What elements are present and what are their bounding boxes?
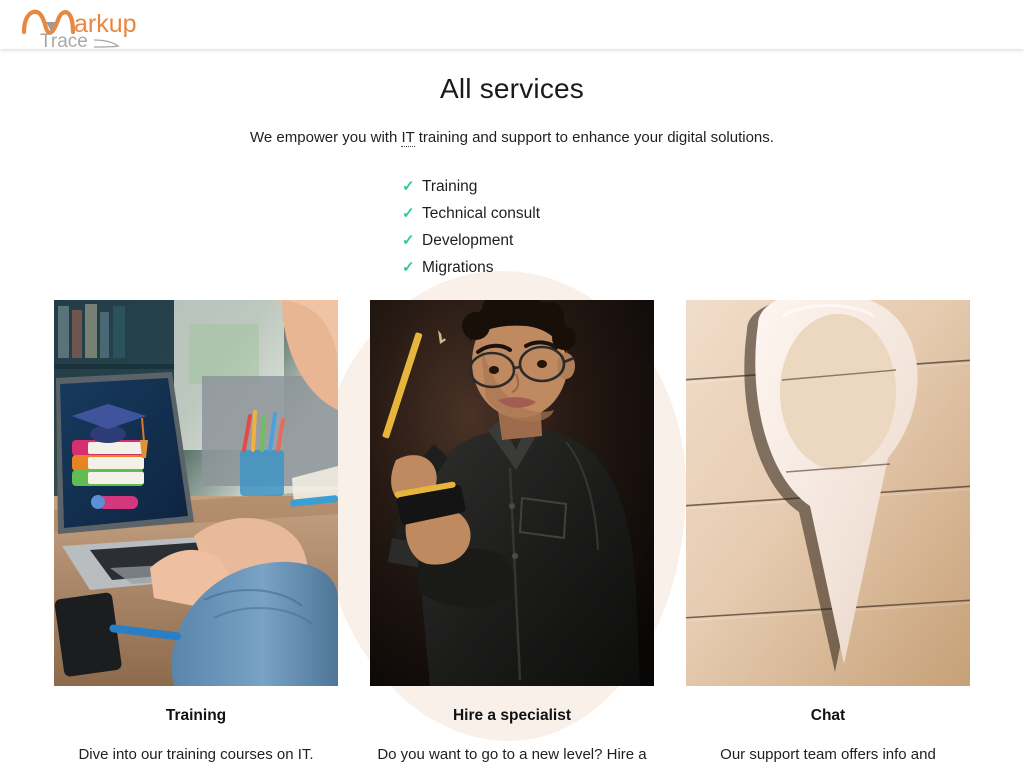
check-icon: ✓ [402,200,415,227]
list-item: ✓ Technical consult [402,200,622,227]
site-logo[interactable]: arkup Trace [18,2,138,48]
card-description: Our support team offers info and guidanc… [686,743,970,768]
service-card-hire-a-specialist[interactable]: Hire a specialist Do you want to go to a… [370,300,654,768]
subtitle-text-after: training and support to enhance your dig… [415,129,774,146]
feature-label: Technical consult [422,200,540,227]
service-card-chat[interactable]: Chat Our support team offers info and gu… [686,300,970,768]
page-subtitle: We empower you with IT training and supp… [0,129,1024,146]
white-map-pin-marker-photo [686,300,970,686]
subtitle-text-before: We empower you with [250,129,401,146]
card-image-chat [686,300,970,686]
site-header: arkup Trace [0,0,1024,49]
service-card-training[interactable]: Training Dive into our training courses … [54,300,338,768]
feature-label: Development [422,227,513,254]
card-title: Training [54,707,338,725]
logo-secondary-text: Trace [40,31,88,48]
service-cards: Training Dive into our training courses … [0,300,1024,768]
person-at-laptop-elearning-photo [54,300,338,686]
card-title: Chat [686,707,970,725]
feature-label: Training [422,173,477,200]
list-item: ✓ Development [402,227,622,254]
feature-checklist: ✓ Training ✓ Technical consult ✓ Develop… [402,173,622,281]
specialist-with-pencil-photo [370,300,654,686]
list-item: ✓ Migrations [402,254,622,281]
card-description: Dive into our training courses on IT. De… [54,743,338,768]
card-description: Do you want to go to a new level? Hire a… [370,743,654,768]
check-icon: ✓ [402,254,415,281]
list-item: ✓ Training [402,173,622,200]
services-page: All services We empower you with IT trai… [0,73,1024,768]
card-title: Hire a specialist [370,707,654,725]
logo-mark-icon: arkup Trace [18,2,138,48]
check-icon: ✓ [402,173,415,200]
feature-label: Migrations [422,254,494,281]
card-image-training [54,300,338,686]
card-image-specialist [370,300,654,686]
it-abbreviation[interactable]: IT [401,129,414,147]
check-icon: ✓ [402,227,415,254]
page-title: All services [0,73,1024,105]
